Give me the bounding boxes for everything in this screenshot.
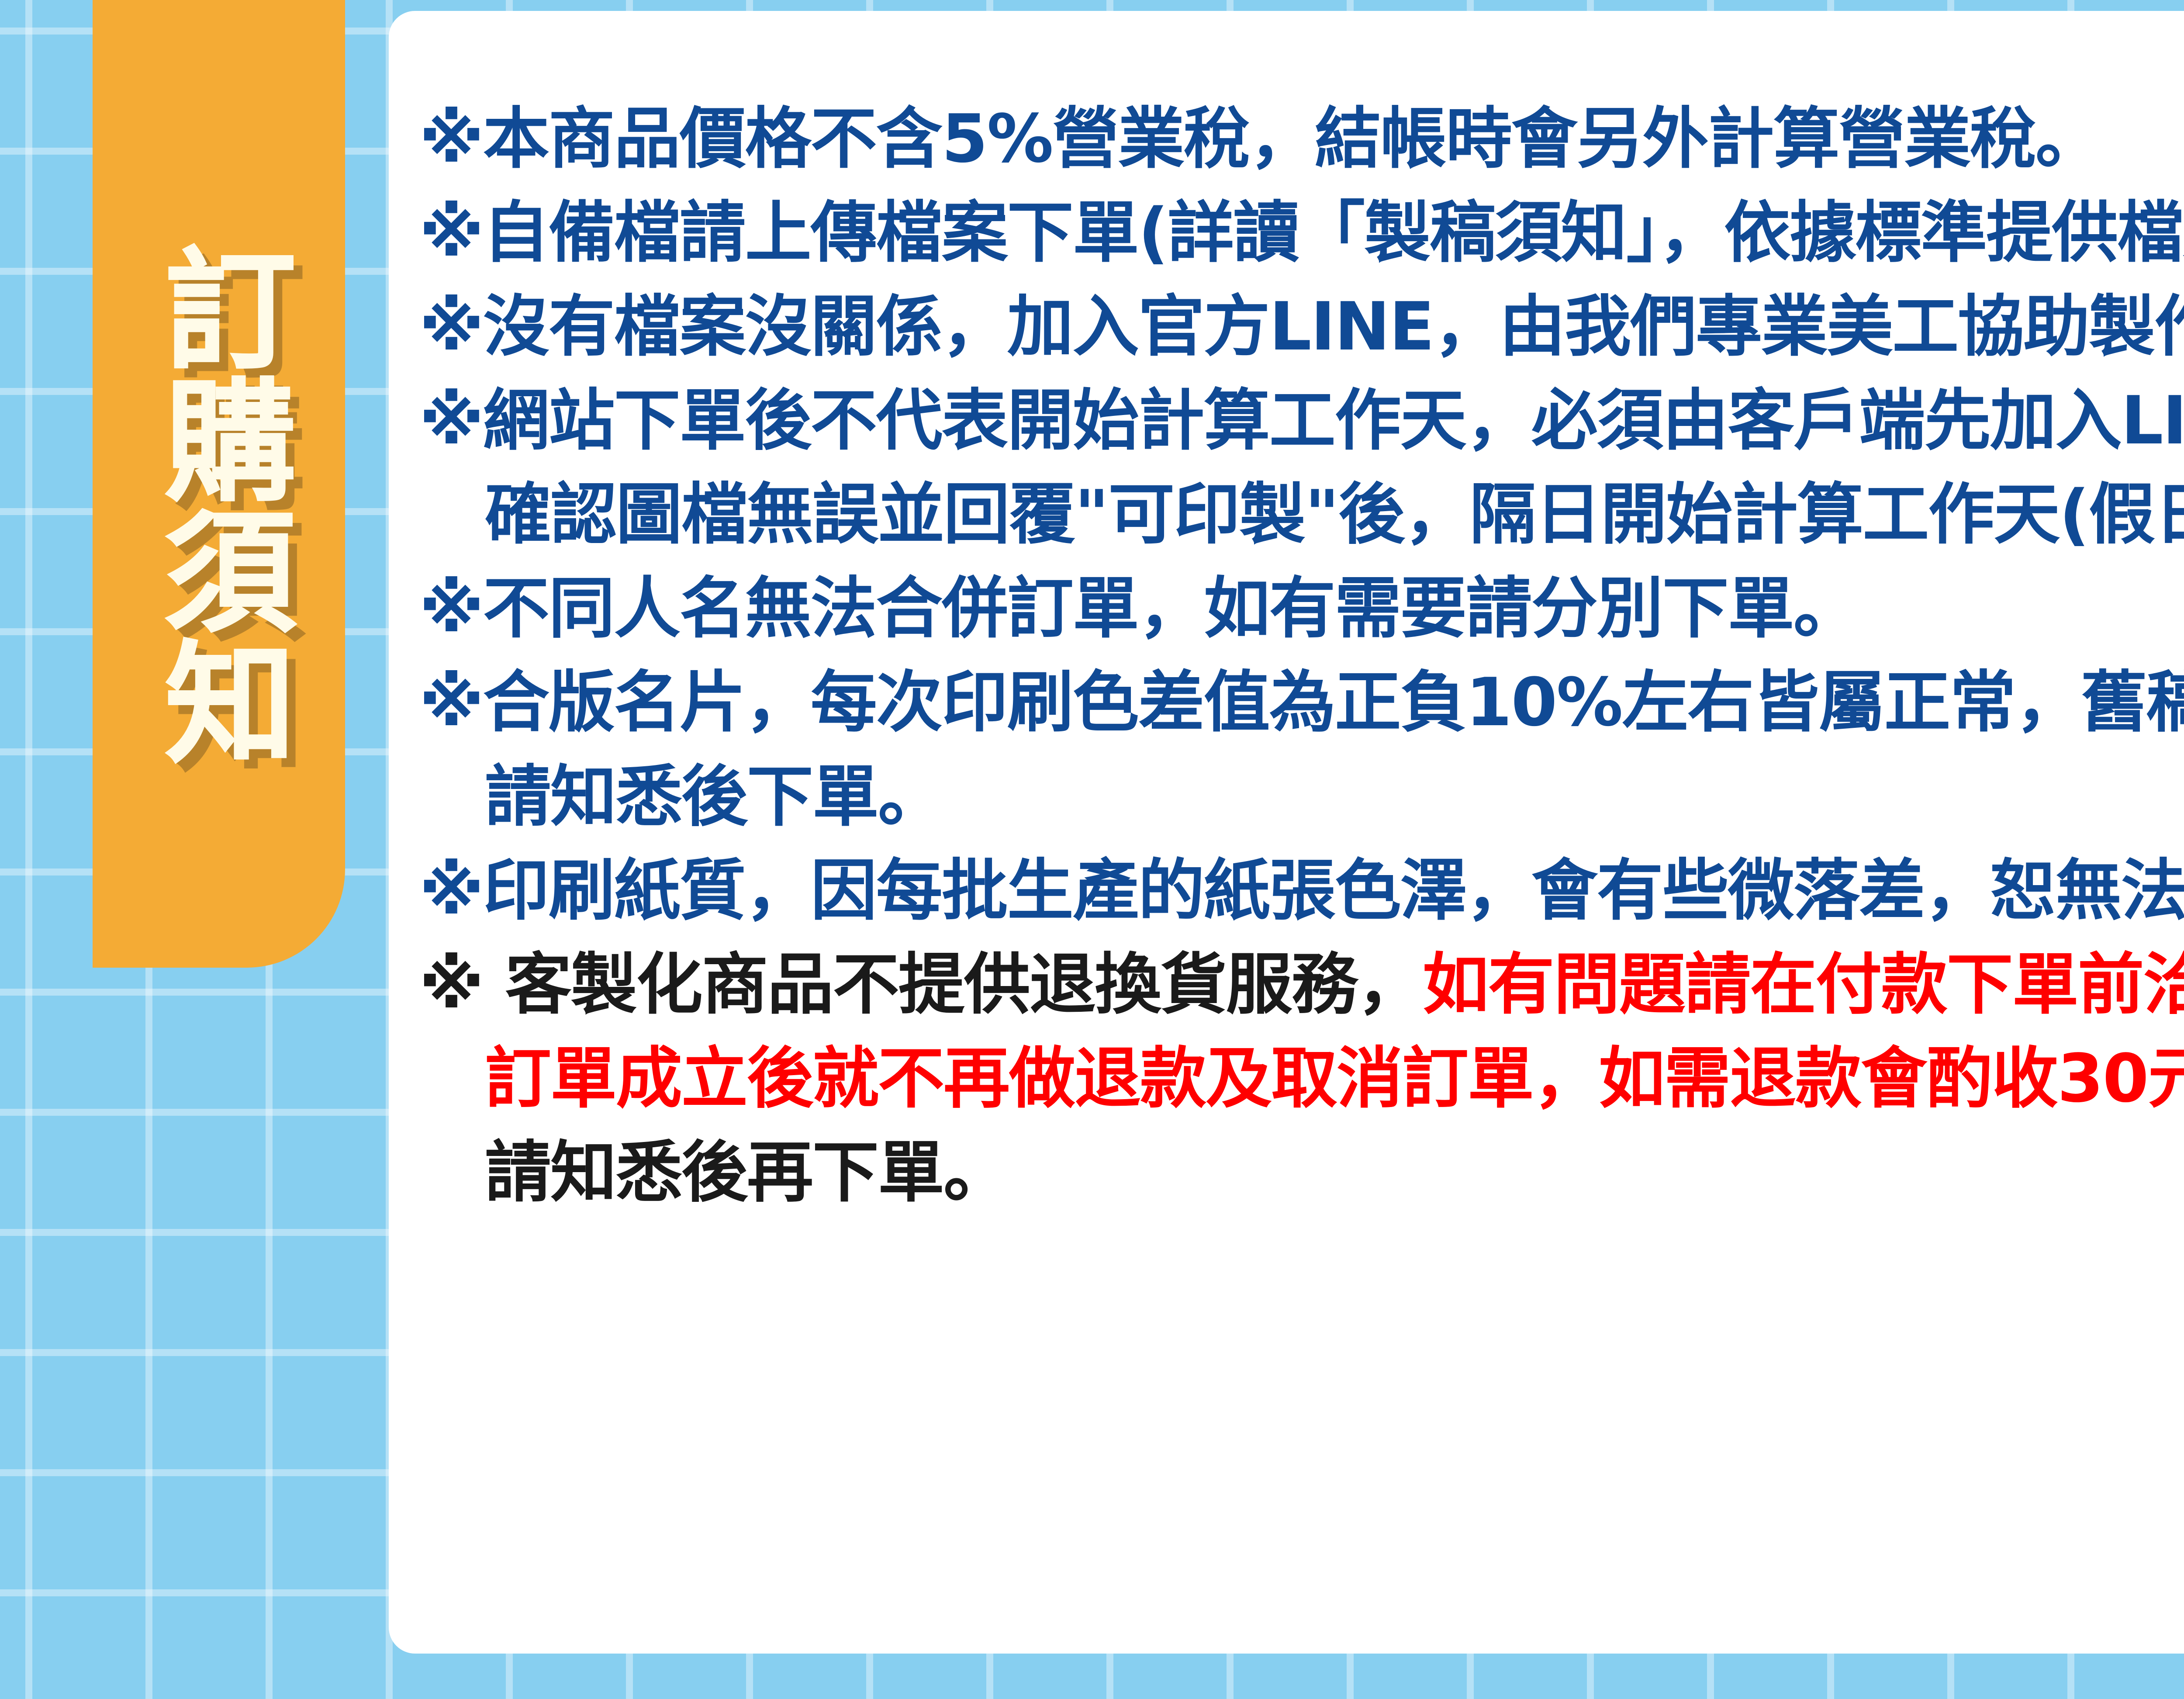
notice-line: 請知悉後下單。 — [419, 750, 2184, 844]
notice-line-text: 請知悉後下單。 — [485, 758, 943, 835]
notice-line: 請知悉後再下單。 — [419, 1125, 2184, 1219]
order-notice-side-tab: 訂購須知 — [93, 0, 345, 968]
notice-line-text: ※沒有檔案沒關係，加入官方LINE，由我們專業美工協助製作檔案。 — [419, 288, 2184, 365]
notice-line-text: ※合版名片，每次印刷色差值為正負10%左右皆屬正常，舊稿加印亦難避免， — [419, 664, 2184, 741]
notice-line: ※自備檔請上傳檔案下單(詳讀「製稿須知」，依據標準提供檔案才可印刷)。 — [419, 186, 2184, 280]
notice-line-text: 訂單成立後就不再做退款及取消訂單，如需退款會酌收30元手續費， — [485, 1040, 2184, 1117]
notice-line-text: ※印刷紙質，因每批生產的紙張色澤，會有些微落差，恕無法當成退貨原因。 — [419, 852, 2184, 929]
notice-line-segment: ※ 客製化商品不提供退換貨服務， — [419, 946, 1423, 1023]
notice-line-text: 請知悉後再下單。 — [485, 1134, 1009, 1211]
notice-line-text: ※不同人名無法合併訂單，如有需要請分別下單。 — [419, 570, 1859, 647]
notice-line: ※本商品價格不含5%營業稅，結帳時會另外計算營業稅。 — [419, 92, 2184, 186]
notice-line: ※ 客製化商品不提供退換貨服務，如有問題請在付款下單前洽詢客服， — [419, 938, 2184, 1031]
notice-line: ※不同人名無法合併訂單，如有需要請分別下單。 — [419, 561, 2184, 655]
notice-line: ※合版名片，每次印刷色差值為正負10%左右皆屬正常，舊稿加印亦難避免， — [419, 655, 2184, 749]
notice-line: ※沒有檔案沒關係，加入官方LINE，由我們專業美工協助製作檔案。 — [419, 280, 2184, 374]
notice-line: ※印刷紙質，因每批生產的紙張色澤，會有些微落差，恕無法當成退貨原因。 — [419, 844, 2184, 938]
notice-line-text: ※本商品價格不含5%營業稅，結帳時會另外計算營業稅。 — [419, 100, 2101, 177]
notice-line-text: ※自備檔請上傳檔案下單(詳讀「製稿須知」，依據標準提供檔案才可印刷)。 — [419, 194, 2184, 271]
order-notice-list: ※本商品價格不含5%營業稅，結帳時會另外計算營業稅。※自備檔請上傳檔案下單(詳讀… — [419, 92, 2184, 1219]
notice-line: ※網站下單後不代表開始計算工作天，必須由客戶端先加入LINE客服，並且 — [419, 374, 2184, 467]
notice-line-text: 確認圖檔無誤並回覆"可印製"後，隔日開始計算工作天(假日不算工作天)。 — [485, 476, 2184, 553]
side-tab-title: 訂購須知 — [150, 242, 288, 766]
notice-line-text: ※網站下單後不代表開始計算工作天，必須由客戶端先加入LINE客服，並且 — [419, 382, 2184, 459]
notice-line: 確認圖檔無誤並回覆"可印製"後，隔日開始計算工作天(假日不算工作天)。 — [419, 467, 2184, 561]
notice-line: 訂單成立後就不再做退款及取消訂單，如需退款會酌收30元手續費， — [419, 1031, 2184, 1125]
notice-line-segment: 如有問題請在付款下單前洽詢客服， — [1423, 946, 2184, 1023]
